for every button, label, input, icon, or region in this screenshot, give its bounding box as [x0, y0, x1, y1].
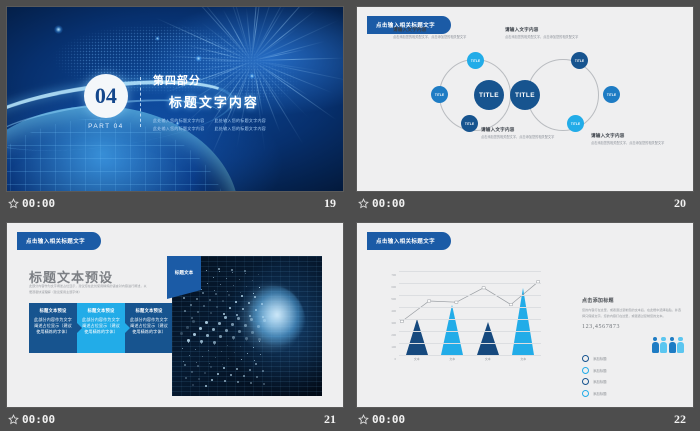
particle — [217, 373, 219, 375]
diagram-caption: 请输入文字内容 点击添加您的相关配文字，点击添加您的相关配文字 — [393, 27, 475, 41]
people-infographic — [652, 337, 685, 353]
particle — [204, 372, 206, 374]
particle — [198, 378, 200, 380]
particle — [213, 341, 216, 344]
content-card[interactable]: 标题文本预设 此部分内容作为文字阐述占位显示（建议使用精炼的字体） — [29, 303, 77, 353]
x-axis-labels: 文本文本文本文本 — [399, 357, 541, 369]
micro-line: 此处输入您的标题文字内容 — [153, 117, 205, 125]
page-number: 22 — [674, 412, 686, 427]
card-heading: 标题文本预设 — [40, 308, 67, 314]
card-body: 此部分内容作为文字阐述占位显示（建议使用精炼的字体） — [33, 317, 73, 335]
star-icon[interactable] — [8, 198, 19, 209]
particle — [235, 301, 237, 303]
particle — [259, 287, 260, 288]
part-number: 04 — [84, 74, 128, 118]
particle — [232, 272, 233, 273]
timer-text: 00:00 — [372, 197, 405, 210]
particle — [238, 330, 241, 333]
caption-heading: 请输入文字内容 — [481, 127, 563, 133]
person-icon — [652, 337, 659, 353]
particle — [201, 289, 202, 290]
caption-body: 点击添加您的相关配文字，点击添加您的相关配文字 — [505, 35, 587, 41]
particle — [226, 278, 227, 279]
diagram-caption: 请输入文字内容 点击添加您的相关配文字，点击添加您的相关配文字 — [505, 27, 587, 41]
particle — [199, 327, 202, 330]
gridline — [399, 295, 541, 296]
particle — [191, 371, 193, 373]
circle-diagram: TITLE TITLE TITLE TITLE TITLE TITLE TITL… — [357, 41, 694, 167]
page-subtitle: 此部分内容作为文字阐述占位显示，建议您在此处使用精炼的语言对内容进行阐述，以便观… — [29, 284, 149, 296]
caption-heading: 请输入文字内容 — [591, 133, 673, 139]
caption-heading: 请输入文字内容 — [505, 27, 587, 33]
particle — [262, 316, 264, 318]
particle — [252, 280, 253, 281]
legend-marker-icon — [582, 378, 589, 385]
particle — [258, 338, 261, 341]
satellite-node[interactable]: TITLE — [431, 86, 448, 103]
caption-body: 点击添加您的相关配文字，点击添加您的相关配文字 — [481, 135, 563, 141]
particle — [222, 364, 223, 365]
particle — [237, 317, 240, 320]
particle — [216, 306, 218, 308]
particle — [245, 337, 248, 340]
vertical-divider — [140, 77, 141, 127]
particle — [184, 364, 186, 366]
status-bar-19: 00:00 19 — [6, 192, 344, 214]
particle — [255, 309, 257, 311]
card-arrow-icon — [77, 323, 82, 333]
status-left: 00:00 — [358, 197, 405, 210]
particle — [233, 285, 234, 286]
particle — [225, 329, 228, 332]
caption-heading: 请输入文字内容 — [393, 27, 475, 33]
satellite-node[interactable]: TITLE — [461, 115, 478, 132]
particle — [205, 385, 207, 387]
y-tick-label: 600 — [391, 285, 396, 289]
particle — [227, 291, 228, 292]
legend-label: 添加标题 — [593, 391, 607, 396]
legend-marker-icon — [582, 355, 589, 362]
micro-line: 此处输入您的标题文字内容 — [215, 125, 267, 133]
legend-label: 添加标题 — [593, 356, 607, 361]
slide-cell-21[interactable]: 点击输入相关标题文字 标题文本预设 此部分内容作为文字阐述占位显示，建议您在此处… — [0, 216, 350, 431]
gridline — [399, 283, 541, 284]
status-bar-20: 00:00 20 — [356, 192, 694, 214]
particle — [208, 350, 209, 351]
particle — [185, 377, 187, 379]
status-left: 00:00 — [358, 413, 405, 426]
particle — [202, 356, 203, 357]
particle — [203, 305, 205, 307]
cover-micro-lines: 此处输入您的标题文字内容 此处输入您的标题文字内容 此处输入您的标题文字内容 此… — [153, 117, 266, 132]
page-number: 21 — [324, 412, 336, 427]
particle — [228, 358, 229, 359]
particle — [205, 321, 208, 324]
particle — [224, 380, 226, 382]
legend-marker-icon — [582, 390, 589, 397]
chart-side-panel: 点击添加标题 您的内容打在这里，或者通过复制您的文本后，在此框中选择粘贴，并选择… — [582, 297, 682, 330]
particle — [219, 271, 220, 272]
side-heading: 点击添加标题 — [582, 297, 682, 304]
particle — [207, 283, 208, 284]
particle — [187, 339, 190, 342]
particle — [196, 362, 197, 363]
caption-body: 点击添加您的相关配文字，点击添加您的相关配文字 — [393, 35, 475, 41]
legend-item[interactable]: 添加标题 — [582, 367, 607, 374]
particle — [263, 383, 265, 385]
y-tick-label: 0 — [394, 357, 396, 361]
particle — [227, 345, 228, 346]
timer-text: 00:00 — [22, 413, 55, 426]
particle — [184, 310, 186, 312]
satellite-node[interactable]: TITLE — [603, 86, 620, 103]
legend-item[interactable]: 添加标题 — [582, 390, 607, 397]
satellite-node[interactable]: TITLE — [571, 52, 588, 69]
legend-item[interactable]: 添加标题 — [582, 378, 607, 385]
gridline — [399, 319, 541, 320]
particle — [241, 295, 243, 297]
y-axis: 0100200300400500600700 — [377, 271, 399, 355]
slide-19[interactable]: 04 PART 04 第四部分 标题文字内容 此处输入您的标题文字内容 此处输入… — [6, 6, 344, 192]
status-left: 00:00 — [8, 197, 55, 210]
particle — [223, 367, 225, 369]
star-icon[interactable] — [358, 198, 369, 209]
particle — [250, 318, 253, 321]
particle — [261, 303, 263, 305]
particle — [253, 293, 254, 294]
particle — [214, 344, 215, 345]
particle — [263, 319, 266, 322]
side-body: 您的内容打在这里，或者通过复制您的文本后，在此框中选择粘贴，并选择只保留文字。您… — [582, 307, 682, 319]
legend-label: 添加标题 — [593, 379, 607, 384]
particle — [242, 308, 244, 310]
particle — [206, 270, 207, 271]
card-heading: 标题文本预设 — [136, 308, 163, 314]
particle — [189, 355, 190, 356]
card-heading: 标题文本预设 — [88, 308, 115, 314]
particle — [257, 325, 260, 328]
particle — [213, 277, 214, 278]
x-tick-label: 文本 — [435, 357, 471, 369]
particle — [206, 334, 209, 337]
slide-20[interactable]: 点击输入相关标题文字 TITLE TITLE TITLE TITLE TITLE… — [356, 6, 694, 192]
particle — [240, 292, 241, 293]
star-icon[interactable] — [358, 414, 369, 425]
satellite-node[interactable]: TITLE — [467, 52, 484, 69]
particle — [188, 342, 189, 343]
particle — [201, 343, 202, 344]
particle — [197, 311, 199, 313]
gridline — [399, 331, 541, 332]
person-icon — [660, 337, 667, 353]
particle — [215, 293, 217, 295]
page-number: 20 — [674, 196, 686, 211]
particle — [231, 269, 233, 271]
particle — [221, 351, 222, 352]
diagram-caption: 请输入文字内容 点击添加您的相关配文字，点击添加您的相关配文字 — [481, 127, 563, 141]
cover-content: 04 PART 04 第四部分 标题文字内容 此处输入您的标题文字内容 此处输入… — [7, 7, 343, 191]
particle — [232, 336, 235, 339]
side-number: 123,4567873 — [582, 324, 682, 330]
particle — [182, 348, 183, 349]
particle — [244, 324, 247, 327]
particle — [237, 381, 239, 383]
person-icon — [669, 337, 676, 353]
particle — [180, 332, 183, 335]
status-bar-22: 00:00 22 — [356, 408, 694, 430]
timer-text: 00:00 — [22, 197, 55, 210]
slide-header-pill: 点击输入相关标题文字 — [17, 232, 101, 250]
status-left: 00:00 — [8, 413, 55, 426]
legend-marker-icon — [582, 367, 589, 374]
y-tick-label: 200 — [391, 333, 396, 337]
micro-line: 此处输入您的标题文字内容 — [215, 117, 267, 125]
particle — [192, 320, 195, 323]
particle — [200, 340, 203, 343]
particle — [245, 273, 246, 274]
satellite-node[interactable]: TITLE — [567, 115, 584, 132]
particle — [231, 323, 234, 326]
particle — [243, 375, 245, 377]
particle — [211, 379, 213, 381]
cover-subheading: 标题文字内容 — [169, 92, 266, 111]
star-icon[interactable] — [8, 414, 19, 425]
card-body: 此部分内容作为文字阐述占位显示（建议使用精炼的字体） — [129, 317, 169, 335]
cover-heading: 第四部分 — [153, 72, 266, 88]
particle — [230, 374, 232, 376]
particle — [209, 363, 210, 364]
particle — [249, 315, 251, 317]
slide-cell-22[interactable]: 点击输入相关标题文字 0100200300400500600700 文本文本文本… — [350, 216, 700, 431]
particle — [183, 361, 184, 362]
particle — [224, 316, 227, 319]
slide-cell-19[interactable]: 04 PART 04 第四部分 标题文字内容 此处输入您的标题文字内容 此处输入… — [0, 0, 350, 216]
legend-label: 添加标题 — [593, 368, 607, 373]
particle — [248, 302, 250, 304]
caption-body: 点击添加您的相关配文字，点击添加您的相关配文字 — [591, 141, 673, 147]
particle — [236, 368, 238, 370]
center-node-left[interactable]: TITLE — [474, 80, 504, 110]
particle — [218, 268, 220, 270]
micro-line-col-1: 此处输入您的标题文字内容 此处输入您的标题文字内容 — [153, 117, 205, 132]
particle — [254, 296, 256, 298]
particle — [215, 357, 216, 358]
card-body: 此部分内容作为文字阐述占位显示（建议使用精炼的字体） — [81, 317, 121, 335]
particle — [220, 284, 221, 285]
image-label-badge: 标题文本 — [167, 256, 201, 290]
particle — [195, 349, 196, 350]
diagram-caption: 请输入文字内容 点击添加您的相关配文字，点击添加您的相关配文字 — [591, 133, 673, 147]
gridline — [399, 355, 541, 356]
content-card[interactable]: 标题文本预设 此部分内容作为文字阐述占位显示（建议使用精炼的字体） — [125, 303, 173, 353]
gridline — [399, 307, 541, 308]
particle — [202, 292, 204, 294]
gridline — [399, 343, 541, 344]
card-group: 标题文本预设 此部分内容作为文字阐述占位显示（建议使用精炼的字体） 标题文本预设… — [29, 303, 173, 353]
y-tick-label: 500 — [391, 297, 396, 301]
gridline — [399, 271, 541, 272]
x-tick-label: 文本 — [399, 357, 435, 369]
particle — [190, 304, 192, 306]
chart-legend: 添加标题 添加标题 添加标题 添加标题 — [582, 355, 607, 401]
particle — [193, 333, 196, 336]
particle — [210, 312, 212, 314]
legend-item[interactable]: 添加标题 — [582, 355, 607, 362]
center-node-right[interactable]: TITLE — [510, 80, 540, 110]
y-tick-label: 400 — [391, 309, 396, 313]
micro-line: 此处输入您的标题文字内容 — [153, 125, 205, 133]
slide-cell-20[interactable]: 点击输入相关标题文字 TITLE TITLE TITLE TITLE TITLE… — [350, 0, 700, 216]
particle — [246, 286, 247, 287]
combo-chart: 0100200300400500600700 文本文本文本文本 — [377, 267, 545, 375]
content-card[interactable]: 标题文本预设 此部分内容作为文字阐述占位显示（建议使用精炼的字体） — [77, 303, 125, 353]
particle — [218, 322, 221, 325]
y-tick-label: 100 — [391, 345, 396, 349]
particle — [236, 314, 238, 316]
particle — [212, 328, 215, 331]
particle — [209, 299, 211, 301]
particle — [191, 317, 193, 319]
head-silhouette — [230, 286, 306, 382]
person-icon — [677, 337, 684, 353]
y-tick-label: 300 — [391, 321, 396, 325]
slide-header-pill: 点击输入相关标题文字 — [367, 232, 451, 250]
particle — [239, 279, 240, 280]
timer-text: 00:00 — [372, 413, 405, 426]
status-bar-21: 00:00 21 — [6, 408, 344, 430]
card-arrow-icon — [125, 323, 130, 333]
part-label: PART 04 — [88, 123, 123, 130]
particle — [186, 326, 189, 329]
particle — [228, 294, 230, 296]
page-number: 19 — [324, 196, 336, 211]
particle — [229, 307, 231, 309]
particle — [197, 365, 199, 367]
plot-area — [399, 271, 541, 355]
particle — [219, 335, 222, 338]
part-badge: 04 PART 04 — [84, 74, 128, 130]
particle — [258, 274, 259, 275]
micro-line-col-2: 此处输入您的标题文字内容 此处输入您的标题文字内容 — [215, 117, 267, 132]
x-tick-label: 文本 — [470, 357, 506, 369]
particle — [192, 384, 194, 386]
x-tick-label: 文本 — [506, 357, 542, 369]
particle — [214, 290, 215, 291]
particle — [251, 331, 254, 334]
slide-grid: 04 PART 04 第四部分 标题文字内容 此处输入您的标题文字内容 此处输入… — [0, 0, 700, 431]
cover-text: 第四部分 标题文字内容 此处输入您的标题文字内容 此处输入您的标题文字内容 此处… — [153, 72, 266, 132]
particle — [210, 366, 212, 368]
particle — [223, 313, 225, 315]
y-tick-label: 700 — [391, 273, 396, 277]
particle — [222, 300, 224, 302]
particle — [250, 382, 252, 384]
particle — [244, 270, 246, 272]
slide-22[interactable]: 点击输入相关标题文字 0100200300400500600700 文本文本文本… — [356, 222, 694, 408]
slide-21[interactable]: 点击输入相关标题文字 标题文本预设 此部分内容作为文字阐述占位显示，建议您在此处… — [6, 222, 344, 408]
